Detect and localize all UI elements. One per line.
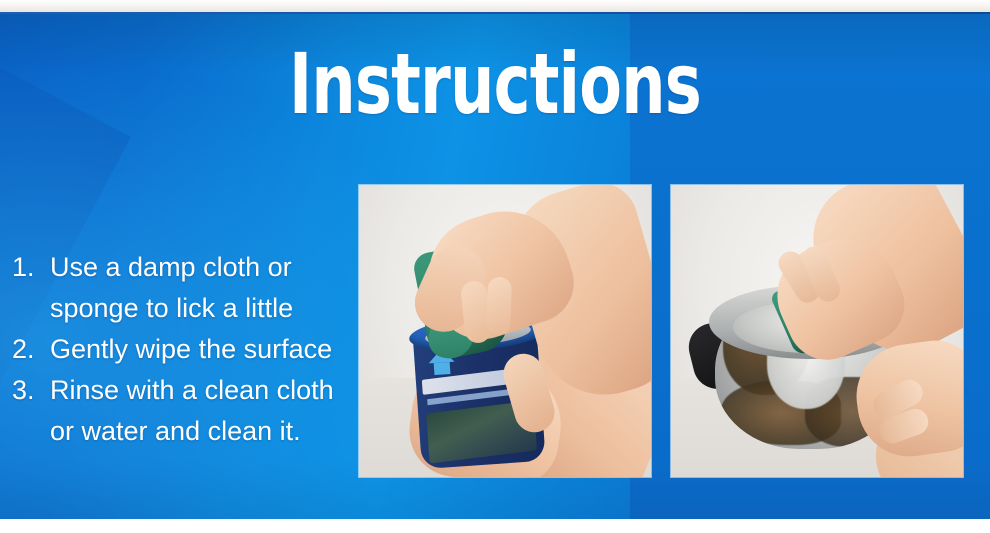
instruction-list: 1. Use a damp cloth or sponge to lick a … [12, 247, 362, 452]
page-title: Instructions [129, 42, 862, 126]
list-item-number: 2. [12, 329, 50, 370]
list-item: 1. Use a damp cloth or sponge to lick a … [12, 247, 362, 329]
list-item-label: Use a damp cloth or sponge to lick a lit… [50, 247, 362, 329]
instructions-banner: Instructions 1. Use a damp cloth or spon… [0, 0, 990, 533]
house-logo-base-icon [434, 362, 451, 375]
photo-dipping-sponge-in-jar [359, 185, 651, 477]
list-item: 3. Rinse with a clean cloth or water and… [12, 370, 362, 452]
list-item-label: Rinse with a clean cloth or water and cl… [50, 370, 362, 452]
list-item-number: 1. [12, 247, 50, 288]
list-item-number: 3. [12, 370, 50, 411]
photo-scrubbing-pot [671, 185, 963, 477]
finger [486, 277, 512, 336]
list-item-label: Gently wipe the surface [50, 329, 362, 370]
list-item: 2. Gently wipe the surface [12, 329, 362, 370]
top-divider-line [0, 12, 990, 14]
bottom-strip [0, 519, 990, 533]
